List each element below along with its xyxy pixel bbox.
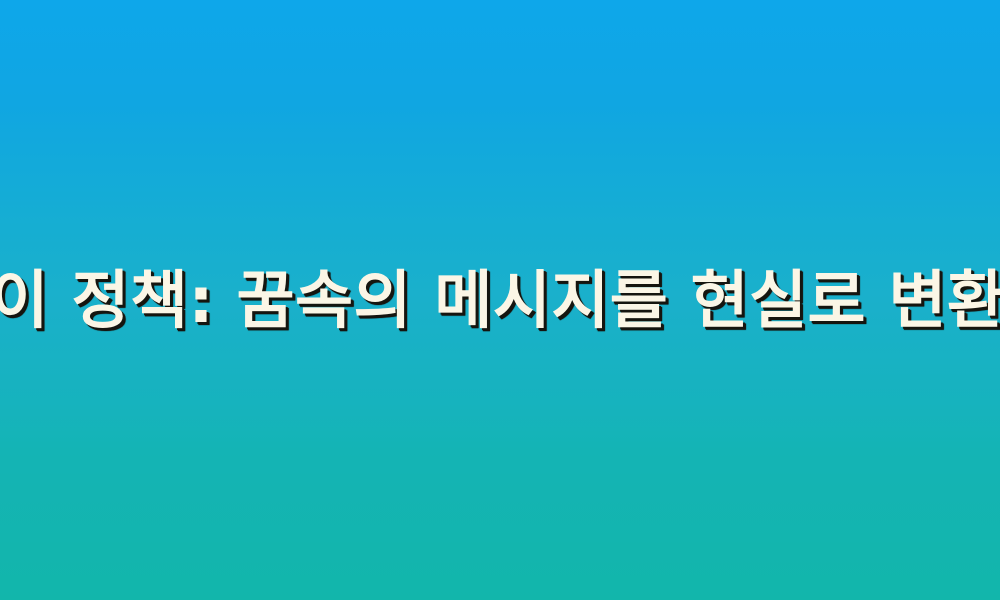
headline-container: 들이 정책: 꿈속의 메시지를 현실로 변환하 — [0, 0, 1000, 600]
banner-background: 들이 정책: 꿈속의 메시지를 현실로 변환하 — [0, 0, 1000, 600]
banner-headline-text: 들이 정책: 꿈속의 메시지를 현실로 변환하 — [0, 269, 1000, 332]
